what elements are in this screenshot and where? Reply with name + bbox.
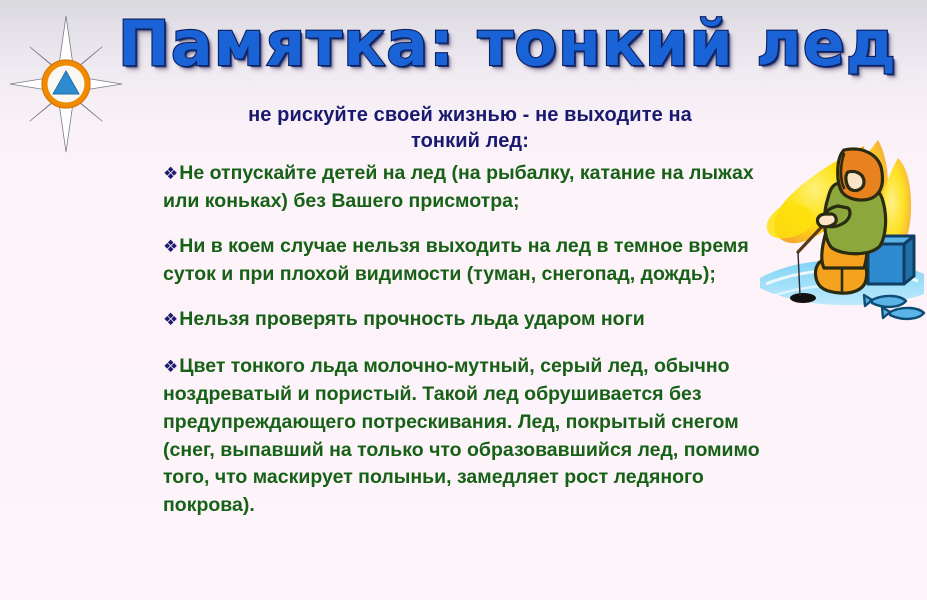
list-item-text: Нельзя проверять прочность льда ударом н… (179, 308, 644, 330)
emercom-star-logo-icon (8, 14, 124, 154)
list-item: ❖Не отпускайте детей на лед (на рыбалку,… (163, 160, 775, 215)
ice-fisherman-illustration (752, 128, 927, 328)
page-title: Памятка: тонкий лед (118, 12, 897, 76)
list-item-text: Цвет тонкого льда молочно-мутный, серый … (163, 355, 760, 515)
list-item: ❖Ни в коем случае нельзя выходить на лед… (163, 233, 775, 288)
list-item-text: Ни в коем случае нельзя выходить на лед … (163, 235, 749, 285)
subtitle-line-1: не рискуйте своей жизнью - не выходите н… (150, 102, 790, 128)
subtitle-line-2: тонкий лед: (150, 128, 790, 154)
diamond-bullet-icon: ❖ (163, 310, 178, 330)
poster-canvas: Памятка: тонкий лед не рискуйте своей жи… (0, 0, 927, 600)
diamond-bullet-icon: ❖ (163, 164, 178, 184)
poster-title-block: Памятка: тонкий лед (118, 12, 858, 76)
diamond-bullet-icon: ❖ (163, 237, 178, 257)
diamond-bullet-icon: ❖ (163, 357, 178, 377)
safety-rules-list: ❖Не отпускайте детей на лед (на рыбалку,… (163, 160, 775, 520)
list-item-text: Не отпускайте детей на лед (на рыбалку, … (163, 162, 754, 212)
list-item: ❖Цвет тонкого льда молочно-мутный, серый… (163, 353, 775, 519)
list-item: ❖Нельзя проверять прочность льда ударом … (163, 306, 775, 334)
caught-fish (864, 295, 924, 319)
poster-subtitle: не рискуйте своей жизнью - не выходите н… (150, 102, 790, 155)
ice-hole (790, 293, 816, 303)
